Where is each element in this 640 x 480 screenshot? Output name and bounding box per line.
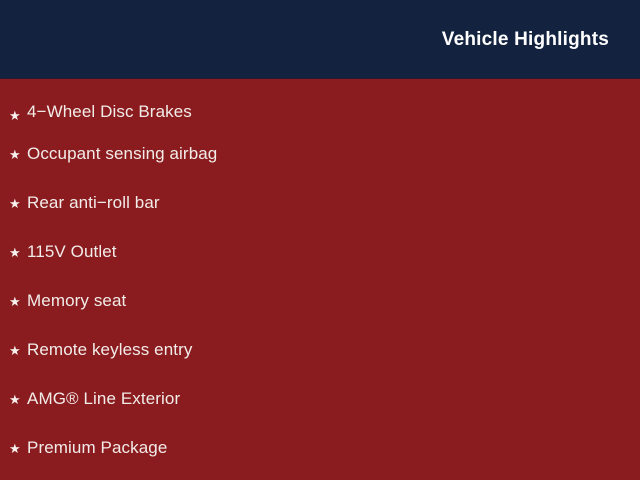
list-item-label: Rear anti−roll bar [27, 194, 160, 213]
list-item[interactable]: ★ Premium Package [0, 424, 640, 473]
highlights-section: ★ 4−Wheel Disc Brakes ★ Occupant sensing… [0, 79, 640, 480]
highlights-list: ★ 4−Wheel Disc Brakes ★ Occupant sensing… [0, 79, 640, 473]
list-item-label: 115V Outlet [27, 243, 117, 262]
star-icon: ★ [9, 109, 27, 122]
page-title: Vehicle Highlights [442, 30, 609, 49]
star-icon: ★ [9, 246, 27, 259]
list-item-label: Remote keyless entry [27, 341, 192, 360]
header-bar: Vehicle Highlights [0, 0, 640, 79]
list-item[interactable]: ★ Memory seat [0, 277, 640, 326]
list-item[interactable]: ★ 4−Wheel Disc Brakes [0, 79, 640, 130]
list-item[interactable]: ★ Rear anti−roll bar [0, 179, 640, 228]
star-icon: ★ [9, 393, 27, 406]
list-item[interactable]: ★ 115V Outlet [0, 228, 640, 277]
list-item[interactable]: ★ AMG® Line Exterior [0, 375, 640, 424]
star-icon: ★ [9, 344, 27, 357]
list-item-label: Occupant sensing airbag [27, 145, 217, 164]
list-item[interactable]: ★ Occupant sensing airbag [0, 130, 640, 179]
list-item-label: 4−Wheel Disc Brakes [27, 103, 192, 122]
star-icon: ★ [9, 295, 27, 308]
star-icon: ★ [9, 197, 27, 210]
list-item[interactable]: ★ Remote keyless entry [0, 326, 640, 375]
vehicle-highlights-panel: Vehicle Highlights ★ 4−Wheel Disc Brakes… [0, 0, 640, 480]
star-icon: ★ [9, 442, 27, 455]
list-item-label: Premium Package [27, 439, 167, 458]
list-item-label: Memory seat [27, 292, 126, 311]
star-icon: ★ [9, 148, 27, 161]
list-item-label: AMG® Line Exterior [27, 390, 180, 409]
